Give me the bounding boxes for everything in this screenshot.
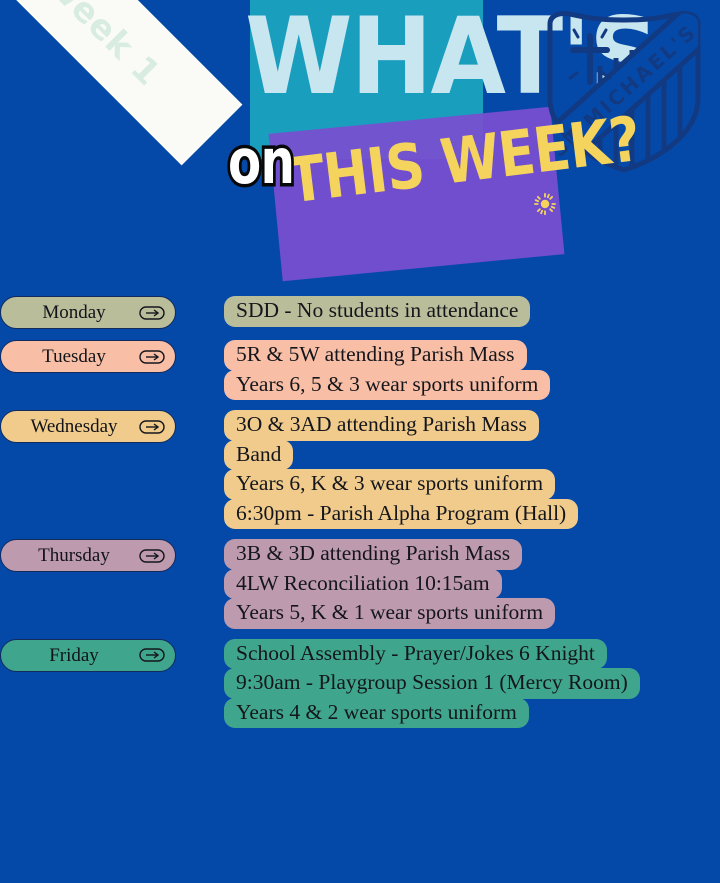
day-pill-monday[interactable]: Monday xyxy=(0,296,176,329)
day-row-friday: Friday School Assembly - Prayer/Jokes 6 … xyxy=(0,639,720,728)
day-pill-friday[interactable]: Friday xyxy=(0,639,176,672)
event-item: 9:30am - Playgroup Session 1 (Mercy Room… xyxy=(224,668,640,699)
day-pill-tuesday[interactable]: Tuesday xyxy=(0,340,176,373)
events-thursday: 3B & 3D attending Parish Mass 4LW Reconc… xyxy=(224,539,555,628)
events-monday: SDD - No students in attendance xyxy=(224,296,530,326)
week-corner-banner-inner: Week 1 xyxy=(0,0,242,165)
events-tuesday: 5R & 5W attending Parish Mass Years 6, 5… xyxy=(224,340,550,399)
arrow-right-icon xyxy=(139,306,165,320)
day-pill-wednesday[interactable]: Wednesday xyxy=(0,410,176,443)
day-row-thursday: Thursday 3B & 3D attending Parish Mass 4… xyxy=(0,539,720,628)
day-pill-thursday[interactable]: Thursday xyxy=(0,539,176,572)
event-item: Band xyxy=(224,440,293,471)
schedule-list: Monday SDD - No students in attendance T… xyxy=(0,296,720,738)
event-item: Years 5, K & 1 wear sports uniform xyxy=(224,598,555,629)
event-item: 4LW Reconciliation 10:15am xyxy=(224,569,502,600)
starburst-icon xyxy=(534,193,556,215)
arrow-right-icon xyxy=(139,549,165,563)
events-wednesday: 3O & 3AD attending Parish Mass Band Year… xyxy=(224,410,578,528)
event-item: 3B & 3D attending Parish Mass xyxy=(224,539,522,570)
arrow-right-icon xyxy=(139,420,165,434)
event-item: 3O & 3AD attending Parish Mass xyxy=(224,410,539,441)
day-row-tuesday: Tuesday 5R & 5W attending Parish Mass Ye… xyxy=(0,340,720,399)
event-item: Years 4 & 2 wear sports uniform xyxy=(224,698,529,729)
day-row-wednesday: Wednesday 3O & 3AD attending Parish Mass… xyxy=(0,410,720,528)
event-item: SDD - No students in attendance xyxy=(224,296,530,327)
day-label-friday: Friday xyxy=(9,646,139,665)
day-label-thursday: Thursday xyxy=(9,546,139,565)
title-whats: WHAT'S xyxy=(245,6,539,108)
event-item: School Assembly - Prayer/Jokes 6 Knight xyxy=(224,639,607,670)
week-corner-banner: Week 1 xyxy=(0,0,242,165)
day-label-wednesday: Wednesday xyxy=(9,417,139,436)
day-label-monday: Monday xyxy=(9,303,139,322)
whats-on-poster: Week 1 WHAT'S on THIS WEEK? xyxy=(0,0,720,883)
day-label-tuesday: Tuesday xyxy=(9,347,139,366)
event-item: Years 6, K & 3 wear sports uniform xyxy=(224,469,555,500)
title-on: on xyxy=(228,131,294,193)
events-friday: School Assembly - Prayer/Jokes 6 Knight … xyxy=(224,639,640,728)
event-item: 6:30pm - Parish Alpha Program (Hall) xyxy=(224,499,578,530)
week-label: Week 1 xyxy=(36,0,168,94)
event-item: 5R & 5W attending Parish Mass xyxy=(224,340,527,371)
event-item: Years 6, 5 & 3 wear sports uniform xyxy=(224,370,550,401)
arrow-right-icon xyxy=(139,350,165,364)
day-row-monday: Monday SDD - No students in attendance xyxy=(0,296,720,329)
arrow-right-icon xyxy=(139,648,165,662)
